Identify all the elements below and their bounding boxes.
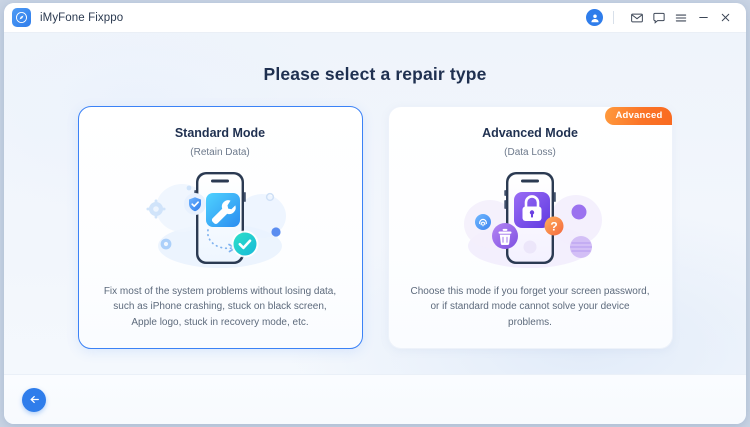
- main-content: Please select a repair type Standard Mod…: [4, 33, 746, 374]
- mail-button[interactable]: [626, 7, 648, 29]
- app-title: iMyFone Fixppo: [40, 12, 123, 24]
- compass-icon: [12, 8, 31, 27]
- back-button[interactable]: [22, 388, 46, 412]
- close-button[interactable]: [714, 7, 736, 29]
- card-subtitle: (Data Loss): [504, 147, 556, 158]
- account-avatar[interactable]: [586, 9, 603, 26]
- phone-with-wrench-illustration: [140, 164, 300, 274]
- hamburger-icon[interactable]: [670, 7, 692, 29]
- titlebar-divider: [613, 11, 614, 24]
- card-subtitle: (Retain Data): [190, 147, 249, 158]
- repair-option-advanced-mode[interactable]: Advanced Advanced Mode (Data Loss): [388, 106, 673, 349]
- card-description: Fix most of the system problems without …: [101, 284, 340, 331]
- titlebar-controls: [586, 7, 736, 29]
- chat-bubble-icon[interactable]: [648, 7, 670, 29]
- repair-type-options: Standard Mode (Retain Data): [4, 106, 746, 349]
- title-bar: iMyFone Fixppo: [4, 3, 746, 33]
- page-title: Please select a repair type: [4, 64, 746, 85]
- card-title: Advanced Mode: [482, 126, 578, 140]
- repair-option-standard-mode[interactable]: Standard Mode (Retain Data): [78, 106, 363, 349]
- card-description: Choose this mode if you forget your scre…: [411, 284, 650, 331]
- svg-text:?: ?: [550, 219, 557, 233]
- minimize-button[interactable]: [692, 7, 714, 29]
- phone-with-lock-illustration: ?: [450, 164, 610, 274]
- footer-bar: [4, 374, 746, 424]
- app-window: iMyFone Fixppo: [4, 3, 746, 424]
- advanced-badge: Advanced: [605, 107, 671, 125]
- card-title: Standard Mode: [175, 126, 265, 140]
